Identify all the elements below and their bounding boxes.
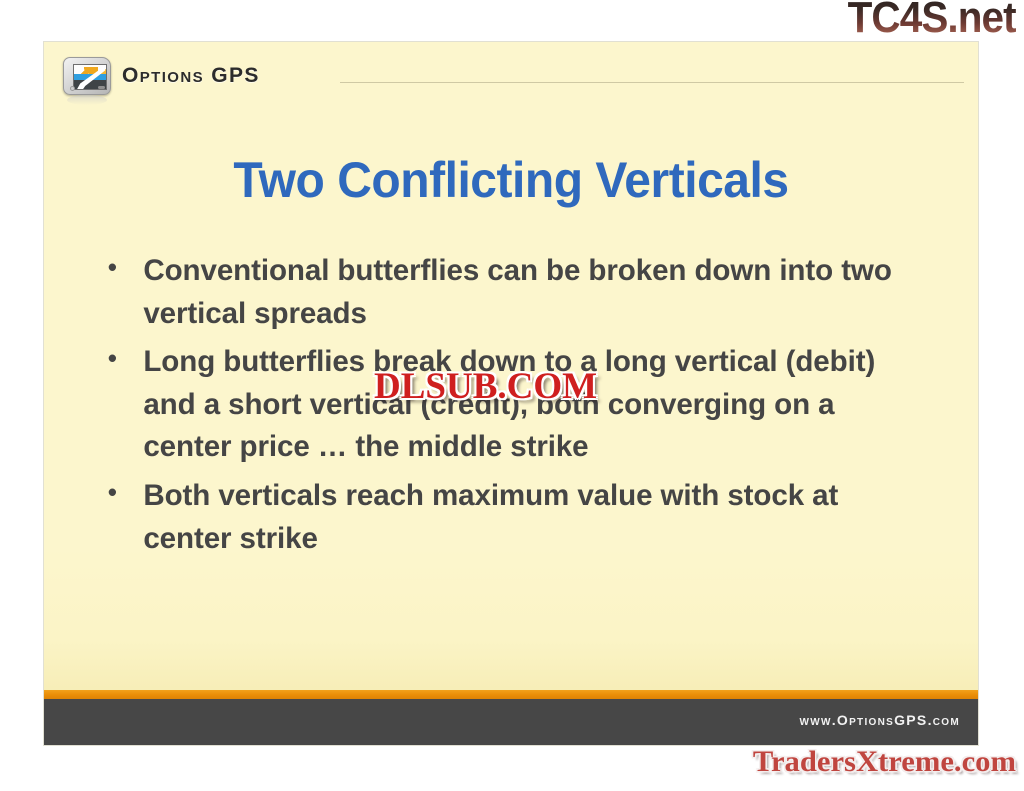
- footer-url: www.OptionsGPS.com: [799, 712, 960, 728]
- tc4s-watermark: TC4S.net: [848, 0, 1016, 40]
- slide-footer: www.OptionsGPS.com: [44, 699, 978, 745]
- gps-device-body: [63, 57, 111, 95]
- gps-device-reflection: [67, 95, 107, 105]
- gps-device-button-left: [70, 86, 75, 91]
- header-divider: [340, 82, 964, 83]
- list-item: Both verticals reach maximum value with …: [100, 475, 918, 560]
- presentation-slide: Options GPS Two Conflicting Verticals Co…: [44, 42, 978, 745]
- list-item: Conventional butterflies can be broken d…: [100, 250, 918, 335]
- page-title: Two Conflicting Verticals: [63, 154, 960, 207]
- gps-device-button-right: [98, 86, 105, 89]
- tradersxtreme-watermark: TradersXtreme.com: [753, 745, 1016, 779]
- bullet-list: Conventional butterflies can be broken d…: [100, 250, 930, 566]
- brand-name: Options GPS: [122, 64, 260, 88]
- footer-accent-stripe: [44, 690, 978, 699]
- slide-header: Options GPS: [44, 42, 978, 108]
- dlsub-watermark: DLSUB.COM: [374, 365, 597, 408]
- gps-device-icon: [60, 55, 114, 101]
